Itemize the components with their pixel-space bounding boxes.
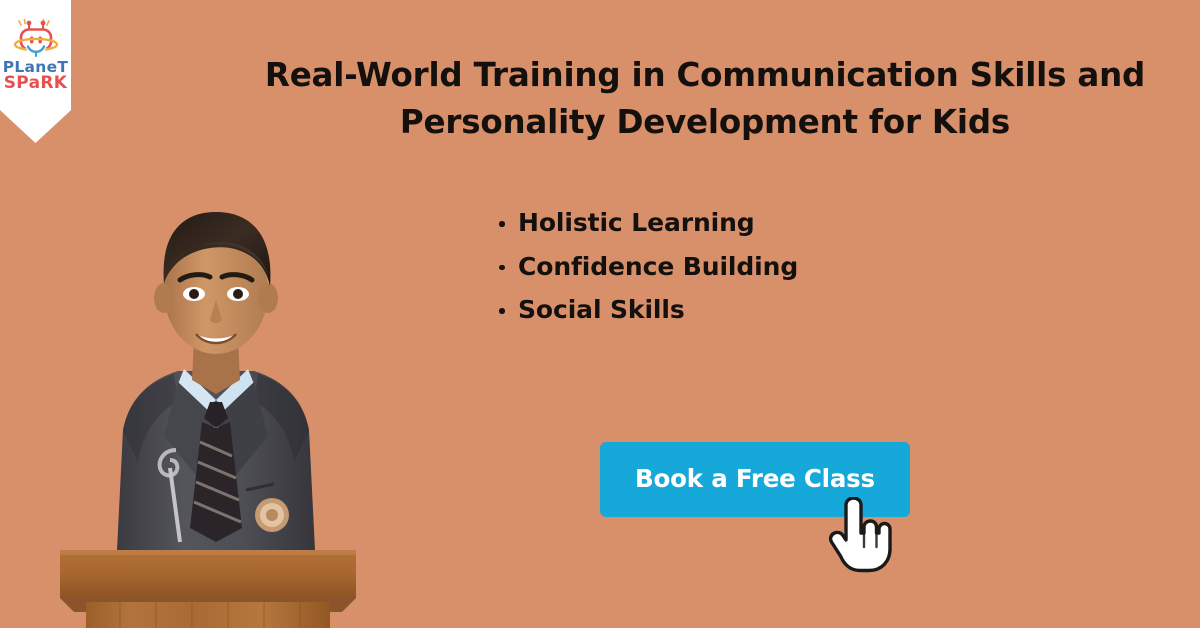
brand-logo-ribbon[interactable]: PLaneT SPaRK [0, 0, 71, 143]
brand-wordmark: PLaneT SPaRK [3, 60, 69, 92]
podium-front [86, 602, 330, 628]
feature-list: Holistic Learning Confidence Building So… [496, 208, 798, 339]
book-free-class-button[interactable]: Book a Free Class [600, 442, 910, 517]
hero-headline: Real-World Training in Communication Ski… [230, 52, 1180, 146]
planetspark-robot-logo-icon [9, 17, 63, 57]
podium-top [60, 550, 356, 598]
feature-item-holistic-learning: Holistic Learning [496, 208, 798, 239]
feature-item-social-skills: Social Skills [496, 295, 798, 326]
student-podium-photo [60, 150, 372, 628]
cta-container: Book a Free Class [600, 442, 910, 517]
brand-wordmark-spark: SPaRK [3, 75, 69, 92]
ad-banner: PLaneT SPaRK Real-World Training in Comm… [0, 0, 1200, 628]
feature-item-confidence-building: Confidence Building [496, 252, 798, 283]
